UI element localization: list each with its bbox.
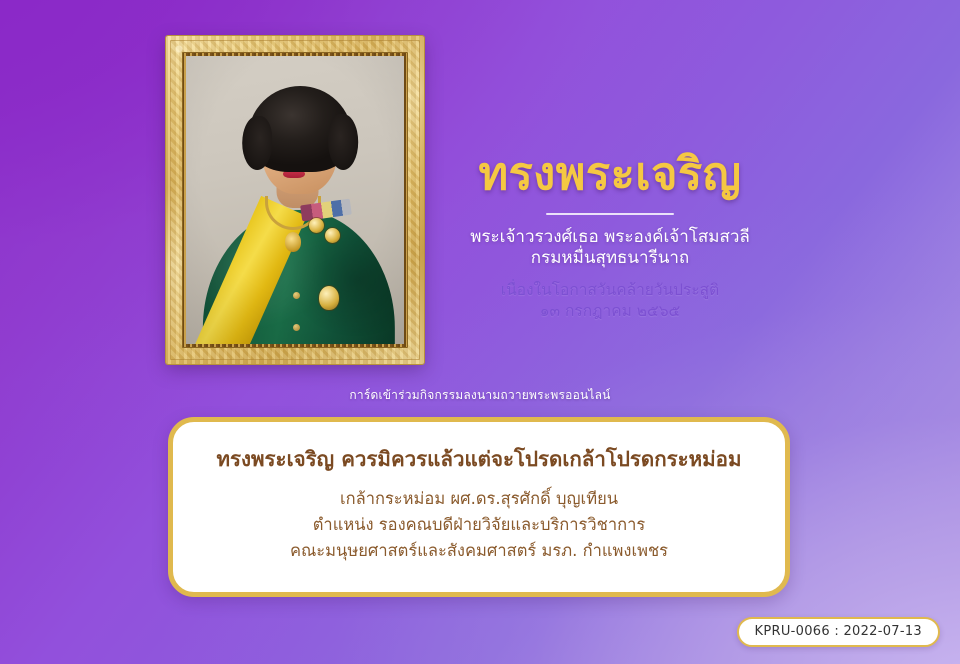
figure-medal-one (309, 218, 324, 233)
royal-name-line-1: พระเจ้าวรวงศ์เธอ พระองค์เจ้าโสมสวลี (440, 227, 780, 248)
card-line-position: ตำแหน่ง รองคณบดีฝ่ายวิจัยและบริการวิชากา… (313, 512, 646, 538)
figure-button-one (293, 292, 300, 299)
occasion-line-1: เนื่องในโอกาสวันคล้ายวันประสูติ (440, 280, 780, 301)
figure-button-two (293, 324, 300, 331)
royal-name-block: พระเจ้าวรวงศ์เธอ พระองค์เจ้าโสมสวลี กรมห… (440, 227, 780, 269)
figure-pendant (285, 232, 301, 252)
card-title: ทรงพระเจริญ ควรมิควรแล้วแต่จะโปรดเกล้าโป… (217, 446, 742, 473)
figure-medal-two (325, 228, 340, 243)
figure-medal-three (319, 286, 339, 310)
headline-block: ทรงพระเจริญ พระเจ้าวรวงศ์เธอ พระองค์เจ้า… (440, 150, 780, 321)
signature-card: ทรงพระเจริญ ควรมิควรแล้วแต่จะโปรดเกล้าโป… (168, 417, 790, 597)
frame-outer-molding (166, 36, 424, 364)
royal-portrait-photo (186, 56, 404, 344)
occasion-date: ๑๓ กรกฎาคม ๒๕๖๕ (440, 301, 780, 322)
card-line-name: เกล้ากระหม่อม ผศ.ดร.สุรศักดิ์ บุญเทียน (340, 486, 618, 512)
headline-divider (546, 213, 674, 215)
headline-text: ทรงพระเจริญ (440, 150, 780, 199)
figure-hair (248, 86, 352, 172)
activity-caption: การ์ดเข้าร่วมกิจกรรมลงนามถวายพระพรออนไลน… (0, 386, 960, 405)
occasion-block: เนื่องในโอกาสวันคล้ายวันประสูติ ๑๓ กรกฎา… (440, 280, 780, 322)
portrait-figure (186, 56, 404, 344)
reference-badge: KPRU-0066 : 2022-07-13 (737, 617, 940, 647)
royal-name-line-2: กรมหมื่นสุทธนารีนาถ (440, 248, 780, 269)
royal-portrait-frame (166, 36, 424, 364)
card-line-faculty: คณะมนุษยศาสตร์และสังคมศาสตร์ มรภ. กำแพงเ… (290, 538, 668, 564)
greeting-card-page: ทรงพระเจริญ พระเจ้าวรวงศ์เธอ พระองค์เจ้า… (0, 0, 960, 664)
